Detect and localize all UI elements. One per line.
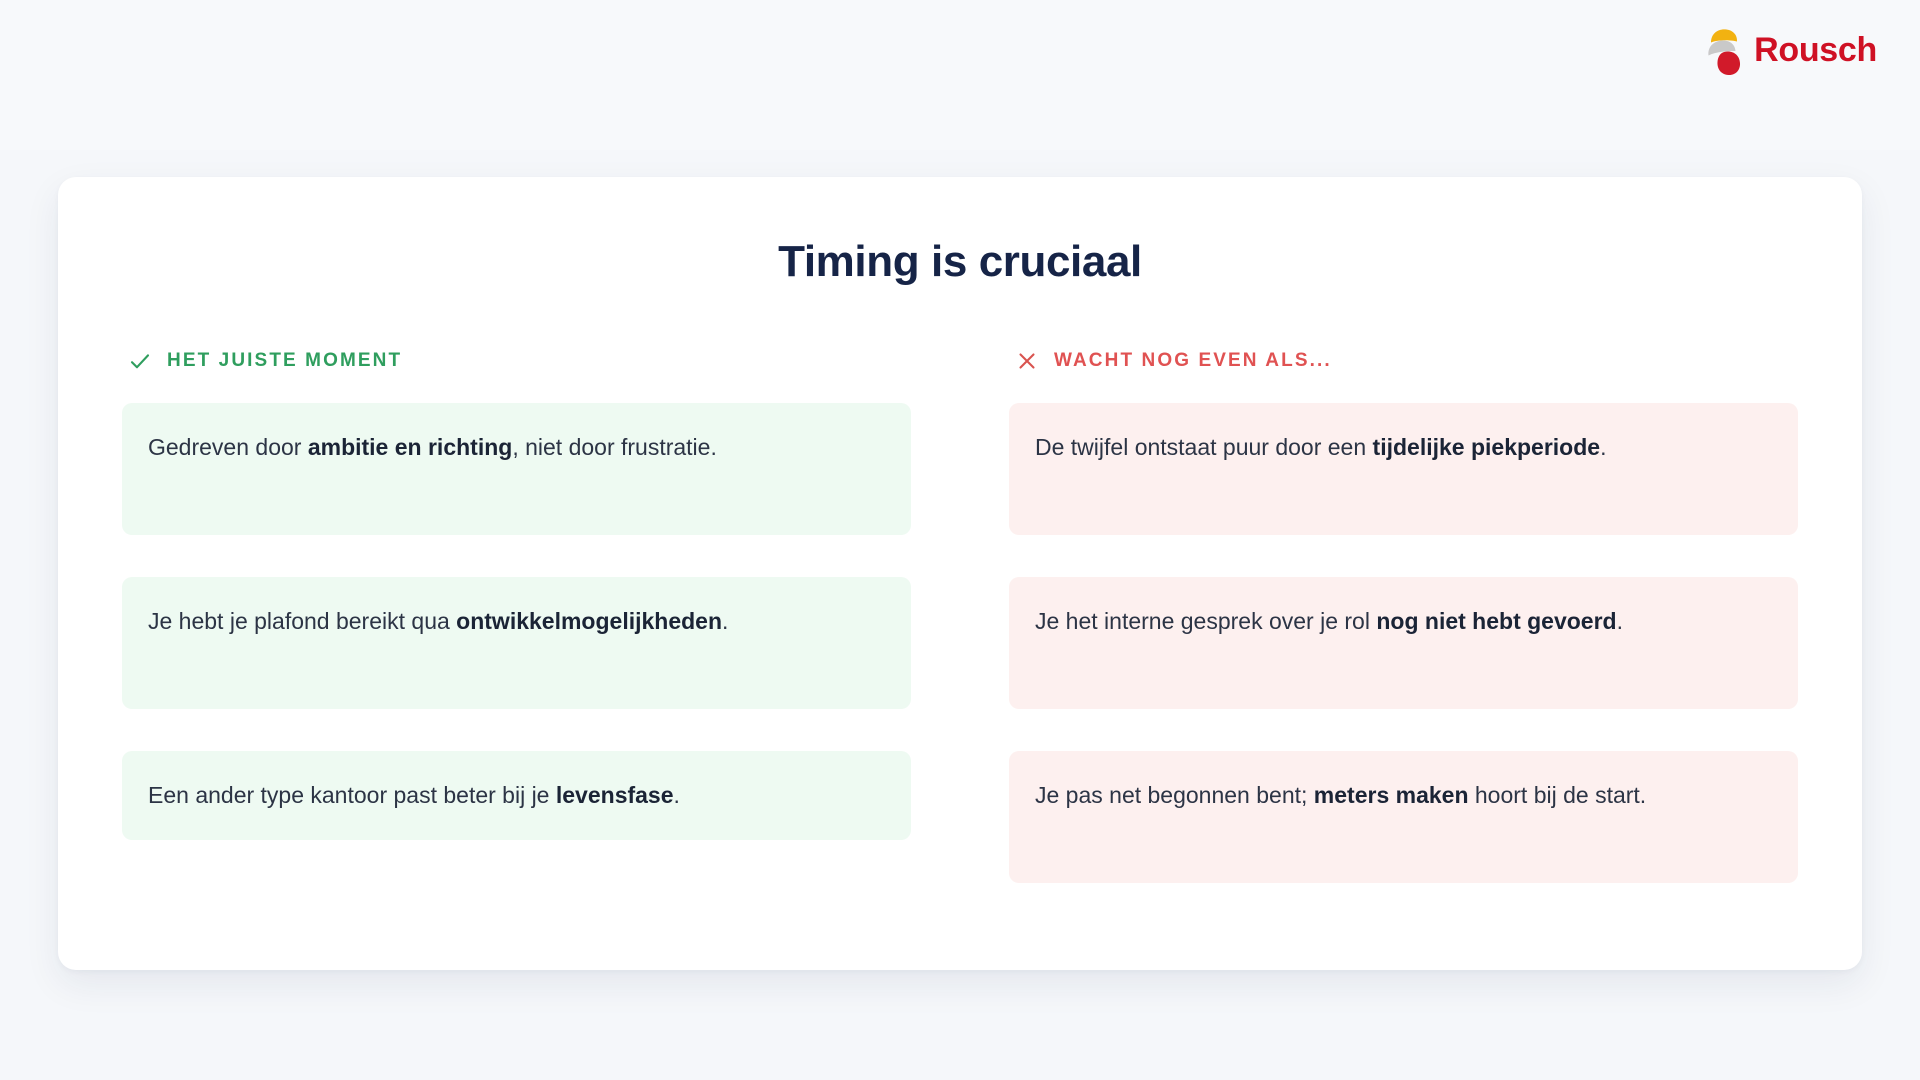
cross-icon	[1015, 349, 1039, 373]
list-item: Je het interne gesprek over je rol nog n…	[1009, 577, 1798, 709]
top-bar: Rousch	[0, 0, 1920, 150]
list-item: Je hebt je plafond bereikt qua ontwikkel…	[122, 577, 911, 709]
column-label-good: HET JUISTE MOMENT	[167, 350, 402, 372]
brand-name: Rousch	[1754, 33, 1877, 69]
page-title: Timing is cruciaal	[58, 237, 1862, 287]
slide-page: Rousch Timing is cruciaal HET JUISTE MOM…	[0, 0, 1920, 1080]
column-het-juiste-moment: HET JUISTE MOMENT Gedreven door ambitie …	[122, 349, 911, 883]
card-list-good: Gedreven door ambitie en richting, niet …	[122, 403, 911, 840]
list-item: Gedreven door ambitie en richting, niet …	[122, 403, 911, 535]
column-header-good: HET JUISTE MOMENT	[122, 349, 911, 373]
content-panel: Timing is cruciaal HET JUISTE MOMENT Ged…	[58, 177, 1862, 970]
list-item: Je pas net begonnen bent; meters maken h…	[1009, 751, 1798, 883]
list-item: Een ander type kantoor past beter bij je…	[122, 751, 911, 840]
check-icon	[128, 349, 152, 373]
card-list-wait: De twijfel ontstaat puur door een tijdel…	[1009, 403, 1798, 883]
column-header-wait: WACHT NOG EVEN ALS...	[1009, 349, 1798, 373]
brand-logo: Rousch	[1706, 26, 1877, 76]
column-wacht-nog-even: WACHT NOG EVEN ALS... De twijfel ontstaa…	[1009, 349, 1798, 883]
column-label-wait: WACHT NOG EVEN ALS...	[1054, 350, 1332, 372]
rousch-petals-logo-icon	[1706, 26, 1750, 76]
list-item: De twijfel ontstaat puur door een tijdel…	[1009, 403, 1798, 535]
comparison-columns: HET JUISTE MOMENT Gedreven door ambitie …	[58, 349, 1862, 883]
